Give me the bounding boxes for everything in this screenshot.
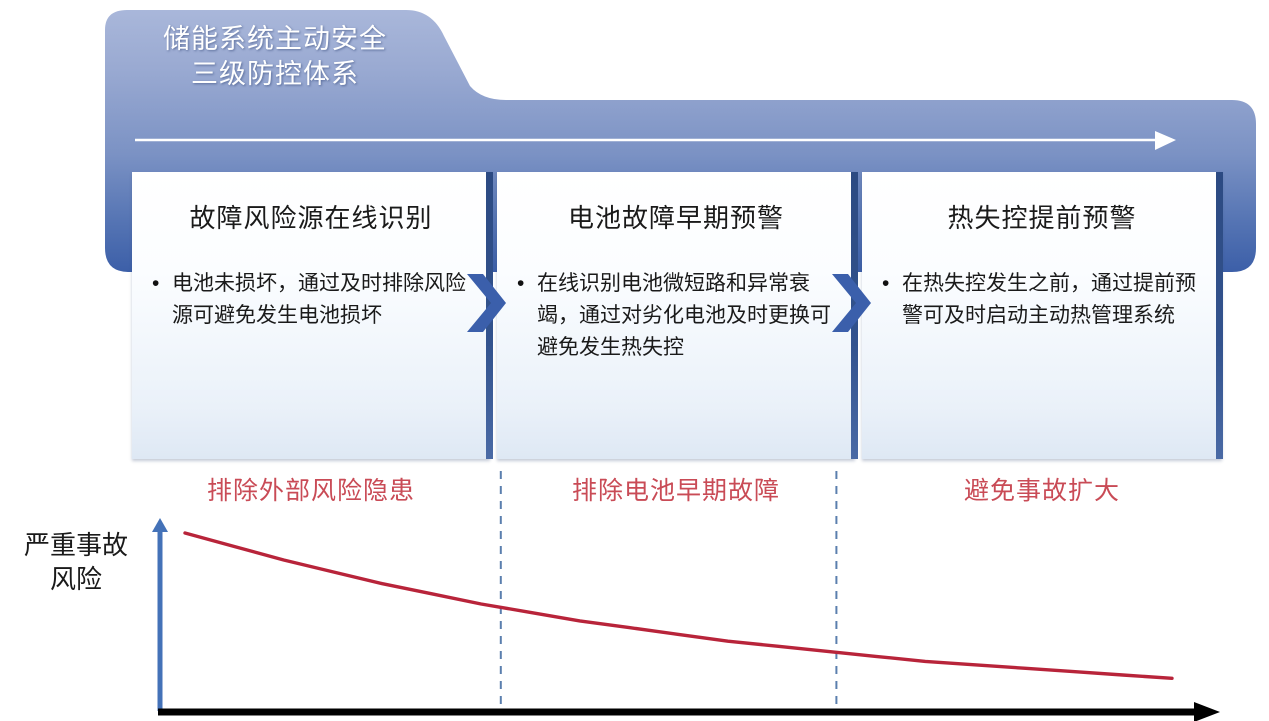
stage-body-2: • 在线识别电池微短路和异常衰竭，通过对劣化电池及时更换可避免发生热失控 (517, 268, 839, 364)
bullet-icon: • (882, 268, 902, 300)
stage-bullet-1: 电池未损坏，通过及时排除风险源可避免发生电池损坏 (172, 268, 474, 332)
chevron-right-icon (465, 272, 507, 334)
chart-series-risk (185, 533, 1172, 678)
stage-title-3: 热失控提前预警 (862, 198, 1222, 235)
slide-canvas: 储能系统主动安全 三级防控体系 故障风险源在线识别 • 电池未损坏，通过及时排除… (0, 0, 1269, 721)
stage-card-3-edge (1216, 172, 1223, 459)
stage-card-2[interactable]: 电池故障早期预警 • 在线识别电池微短路和异常衰竭，通过对劣化电池及时更换可避免… (497, 172, 855, 459)
stage-body-1: • 电池未损坏，通过及时排除风险源可避免发生电池损坏 (152, 268, 474, 332)
page-title: 储能系统主动安全 三级防控体系 (120, 22, 430, 92)
chart-y-axis (152, 518, 168, 711)
stage-bullet-3: 在热失控发生之前，通过提前预警可及时启动主动热管理系统 (902, 268, 1206, 332)
stage-title-2: 电池故障早期预警 (497, 198, 855, 235)
stage-card-1[interactable]: 故障风险源在线识别 • 电池未损坏，通过及时排除风险源可避免发生电池损坏 (132, 172, 490, 459)
stage-title-1: 故障风险源在线识别 (132, 198, 490, 235)
bullet-icon: • (517, 268, 537, 300)
stage-body-3: • 在热失控发生之前，通过提前预警可及时启动主动热管理系统 (882, 268, 1206, 332)
chart-x-axis (158, 702, 1220, 721)
stage-bullet-2: 在线识别电池微短路和异常衰竭，通过对劣化电池及时更换可避免发生热失控 (537, 268, 839, 364)
risk-decay-chart (0, 460, 1269, 721)
chevron-right-icon (830, 272, 872, 334)
stage-card-3[interactable]: 热失控提前预警 • 在热失控发生之前，通过提前预警可及时启动主动热管理系统 (862, 172, 1222, 459)
bullet-icon: • (152, 268, 172, 300)
